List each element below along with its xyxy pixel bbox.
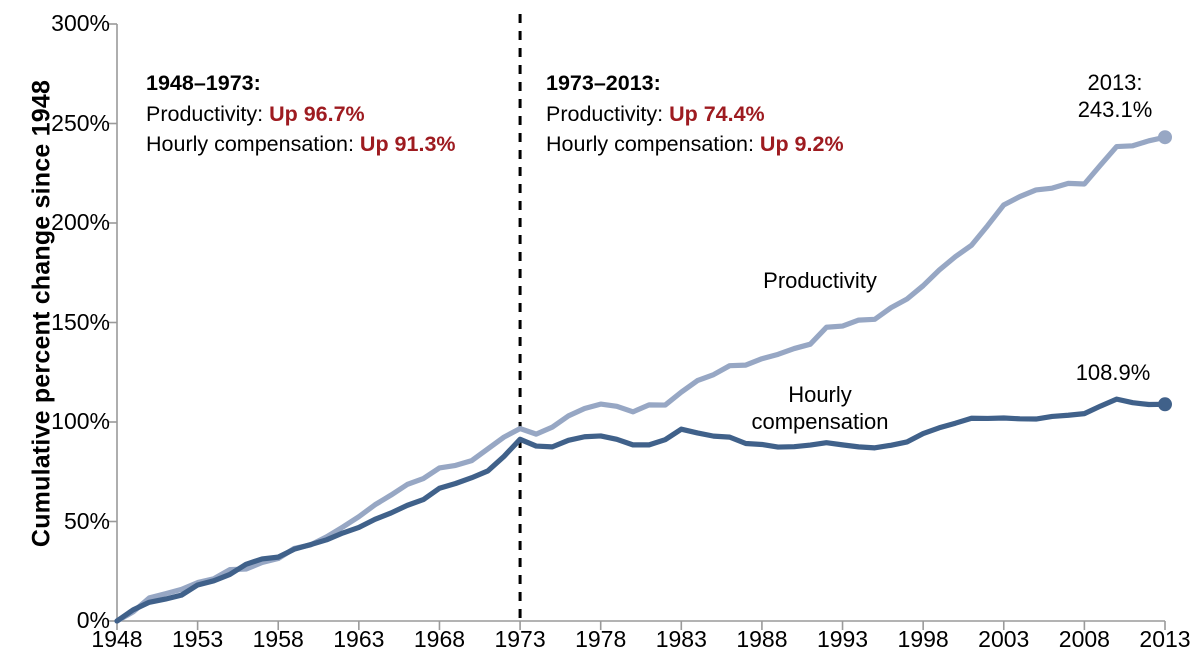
annotation-line: Hourly compensation: Up 9.2% (546, 129, 844, 160)
x-tick-label: 1953 (158, 628, 238, 651)
endpoint-label-hourly-compensation: 108.9% (1028, 360, 1198, 387)
x-tick-label: 2008 (1044, 628, 1124, 651)
x-tick-label: 1968 (399, 628, 479, 651)
y-tick-label: 300% (32, 12, 110, 35)
x-tick-label: 2003 (964, 628, 1044, 651)
annotation-value: Up 74.4% (669, 102, 765, 126)
x-tick-label: 2013 (1125, 628, 1200, 651)
annotation-label: Productivity: (146, 102, 269, 126)
y-tick-label: 100% (32, 410, 110, 433)
x-tick-label: 1963 (319, 628, 399, 651)
annotation-label: Hourly compensation: (146, 132, 360, 156)
annotation-line: Hourly compensation: Up 91.3% (146, 129, 456, 160)
annotation-label: Productivity: (546, 102, 669, 126)
annotation-heading: 1948–1973: (146, 68, 456, 99)
y-tick-label: 200% (32, 211, 110, 234)
x-tick-label: 1988 (722, 628, 802, 651)
x-axis-tick-labels: 1948195319581963196819731978198319881993… (0, 628, 1200, 664)
x-tick-label: 1978 (561, 628, 641, 651)
x-tick-label: 1983 (641, 628, 721, 651)
y-axis-tick-labels: 0%50%100%150%200%250%300% (26, 0, 110, 664)
y-tick-label: 250% (32, 112, 110, 135)
y-tick-label: 50% (32, 510, 110, 533)
annotation-heading: 1973–2013: (546, 68, 844, 99)
x-tick-label: 1973 (480, 628, 560, 651)
annotation-line: Productivity: Up 74.4% (546, 99, 844, 130)
endpoint-label-productivity: 2013: 243.1% (1030, 70, 1200, 124)
x-tick-label: 1948 (77, 628, 157, 651)
annotation-value: Up 96.7% (269, 102, 365, 126)
annotation-value: Up 91.3% (360, 132, 456, 156)
x-tick-label: 1993 (803, 628, 883, 651)
annotation-1948-1973: 1948–1973: Productivity: Up 96.7% Hourly… (146, 68, 456, 160)
annotation-label: Hourly compensation: (546, 132, 760, 156)
chart-container: Cumulative percent change since 1948 0%5… (0, 0, 1200, 664)
series-label-productivity: Productivity (680, 268, 960, 295)
x-tick-label: 1958 (238, 628, 318, 651)
annotation-1973-2013: 1973–2013: Productivity: Up 74.4% Hourly… (546, 68, 844, 160)
data-series-group (117, 137, 1165, 621)
x-tick-label: 1998 (883, 628, 963, 651)
y-tick-label: 150% (32, 311, 110, 334)
annotation-value: Up 9.2% (760, 132, 844, 156)
annotation-line: Productivity: Up 96.7% (146, 99, 456, 130)
series-label-hourly-compensation: Hourly compensation (680, 382, 960, 436)
